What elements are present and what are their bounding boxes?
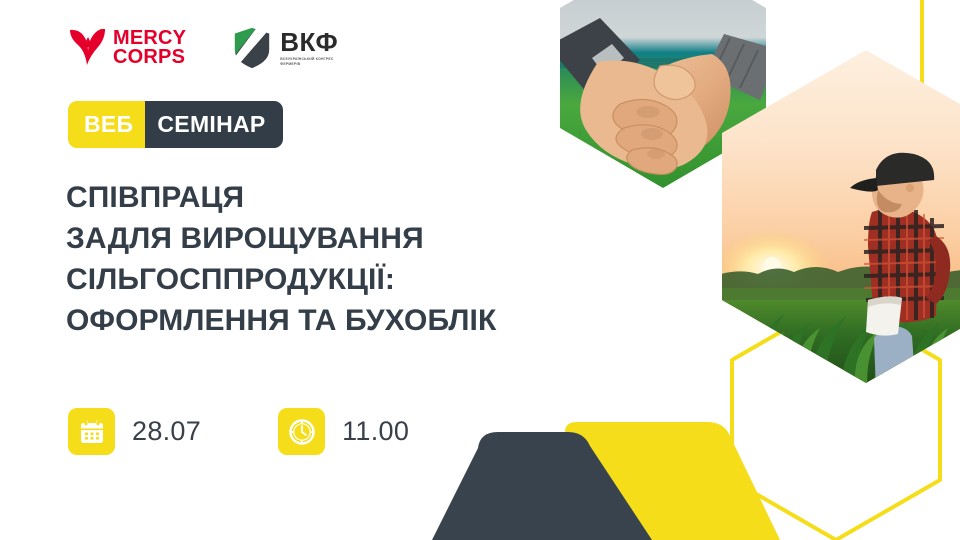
vkf-logo: ВКФ ВСЕУКРАЇНСЬКИЙ КОНГРЕС ФЕРМЕРІВ (232, 26, 350, 70)
yellow-trapezoid-wide (556, 422, 780, 540)
event-meta-row: 28.07 1 (68, 408, 409, 455)
badge-text-seminar: СЕМІНАР (157, 111, 265, 138)
calendar-icon (79, 419, 105, 445)
event-time: 11.00 (278, 408, 409, 455)
logo-row: MERCY CORPS ВКФ (68, 26, 350, 70)
webinar-badge: ВЕБ СЕМІНАР (68, 101, 283, 148)
mercy-corps-leaf-icon (68, 29, 106, 67)
vkf-subtitle: ВСЕУКРАЇНСЬКИЙ КОНГРЕС ФЕРМЕРІВ (280, 57, 350, 66)
headline-line-1: СПІВПРАЦЯ (66, 178, 586, 219)
time-value: 11.00 (342, 416, 409, 447)
yellow-hexagon-outline-lower (732, 300, 940, 540)
headline-line-2: ЗАДЛЯ ВИРОЩУВАННЯ (66, 219, 586, 260)
badge-text-web: ВЕБ (84, 111, 133, 138)
headline-line-3: СІЛЬГОСППРОДУКЦІЇ: (66, 260, 586, 301)
mercy-corps-wordmark: MERCY CORPS (113, 29, 186, 66)
badge-segment-web: ВЕБ (68, 101, 145, 148)
yellow-hexagon-outline (714, 0, 922, 162)
vkf-acronym: ВКФ (280, 29, 350, 55)
vkf-shield-icon (232, 26, 272, 70)
headline-line-4: ОФОРМЛЕННЯ ТА БУХОБЛІК (66, 301, 586, 342)
mercy-corps-logo: MERCY CORPS (68, 29, 186, 67)
clock-icon (288, 418, 316, 446)
time-icon-tile (278, 408, 325, 455)
webinar-banner: MERCY CORPS ВКФ (0, 0, 960, 540)
handshake-hexagon-photo (548, 0, 780, 196)
badge-segment-seminar: СЕМІНАР (145, 101, 282, 148)
dark-trapezoid (432, 432, 652, 540)
event-date: 28.07 (68, 408, 201, 455)
farmer-hexagon-photo (714, 40, 960, 392)
page-title: СПІВПРАЦЯ ЗАДЛЯ ВИРОЩУВАННЯ СІЛЬГОСППРОД… (66, 178, 586, 342)
mercy-corps-line2: CORPS (113, 48, 186, 67)
vkf-wordmark: ВКФ ВСЕУКРАЇНСЬКИЙ КОНГРЕС ФЕРМЕРІВ (280, 29, 350, 66)
date-icon-tile (68, 408, 115, 455)
yellow-trapezoid (565, 422, 772, 540)
date-value: 28.07 (132, 416, 201, 447)
